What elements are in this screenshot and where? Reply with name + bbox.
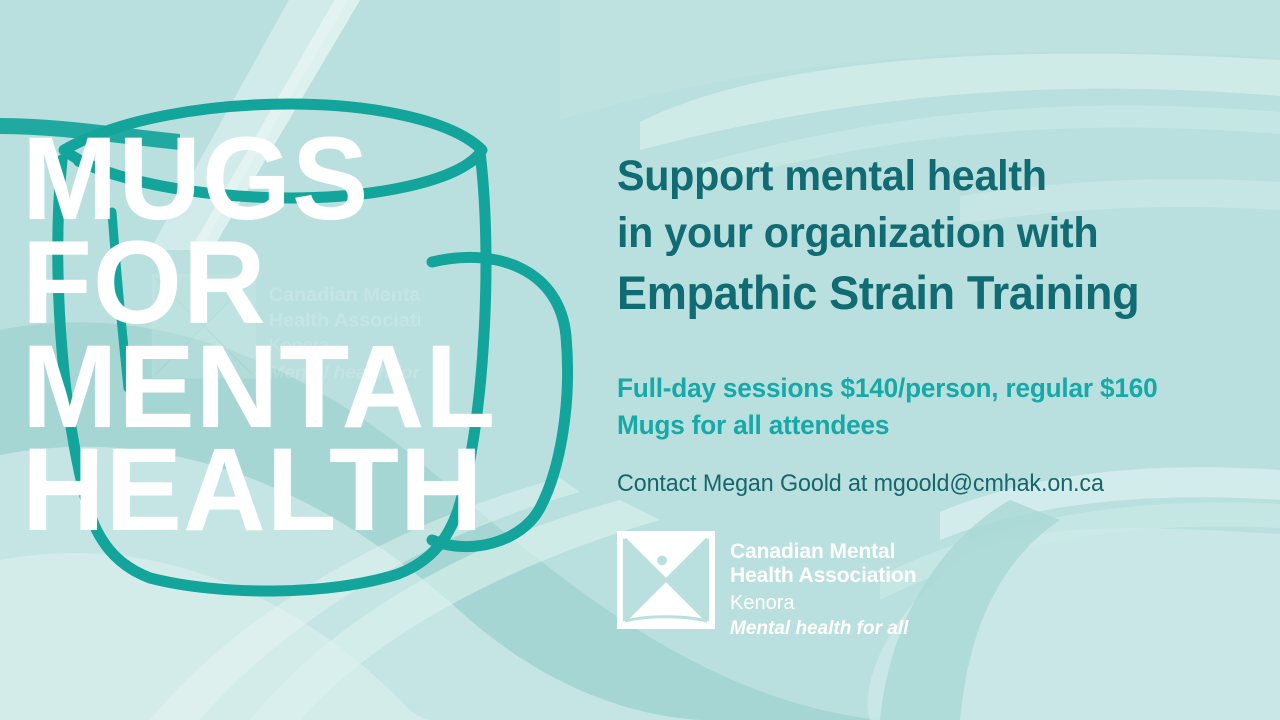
title-block: Canadian Mental Health Association Kenor… (0, 0, 600, 720)
mark-head-dot (657, 556, 667, 566)
perk-line: Mugs for all attendees (617, 407, 1238, 444)
content-column: Support mental health in your organizati… (617, 0, 1257, 720)
price-line: Full-day sessions $140/person, regular $… (617, 370, 1238, 407)
cmha-person-mark-icon (617, 531, 715, 629)
headline-line-3-program-name: Empathic Strain Training (617, 262, 1212, 325)
mug-base (150, 574, 398, 591)
cmha-logo-text: Canadian Mental Health Association Kenor… (730, 531, 916, 641)
contact-line[interactable]: Contact Megan Goold at mgoold@cmhak.on.c… (617, 470, 1238, 498)
poster-title: MUGS FOR MENTAL HEALTH (22, 128, 565, 543)
poster-canvas: Canadian Mental Health Association Kenor… (0, 0, 1280, 720)
offer-block: Full-day sessions $140/person, regular $… (617, 370, 1238, 443)
cmha-org-name: Canadian Mental Health Association (730, 540, 916, 589)
headline-line-2: in your organization with (617, 205, 1212, 262)
cmha-tagline: Mental health for all (730, 618, 916, 641)
cmha-branch-name: Kenora (730, 591, 916, 615)
headline-line-1: Support mental health (617, 148, 1212, 205)
headline-block: Support mental health in your organizati… (617, 148, 1212, 325)
cmha-logo-lockup: Canadian Mental Health Association Kenor… (617, 531, 916, 641)
